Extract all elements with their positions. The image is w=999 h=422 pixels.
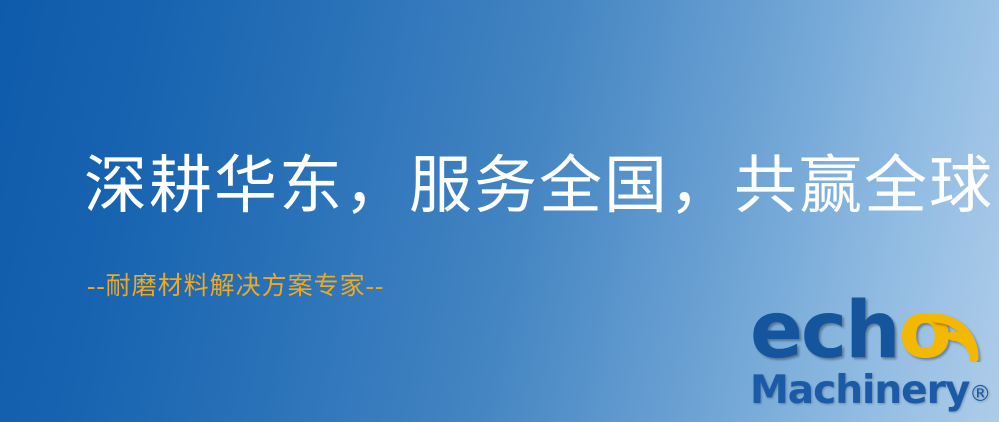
company-logo[interactable]: echo Machinery®: [748, 292, 999, 422]
registered-trademark-icon: ®: [969, 382, 991, 407]
logo-wordmark-o: o: [899, 286, 951, 376]
banner-headline: 深耕华东，服务全国，共赢全球: [84, 152, 994, 220]
logo-wordmark-ech: ech: [750, 286, 899, 376]
logo-tagline: Machinery®: [750, 368, 991, 413]
logo-tagline-text: Machinery: [750, 368, 969, 413]
hero-banner: 深耕华东，服务全国，共赢全球 --耐磨材料解决方案专家-- echo Machi…: [0, 0, 999, 422]
logo-wordmark: echo: [750, 292, 950, 370]
banner-subtitle: --耐磨材料解决方案专家--: [87, 266, 384, 302]
